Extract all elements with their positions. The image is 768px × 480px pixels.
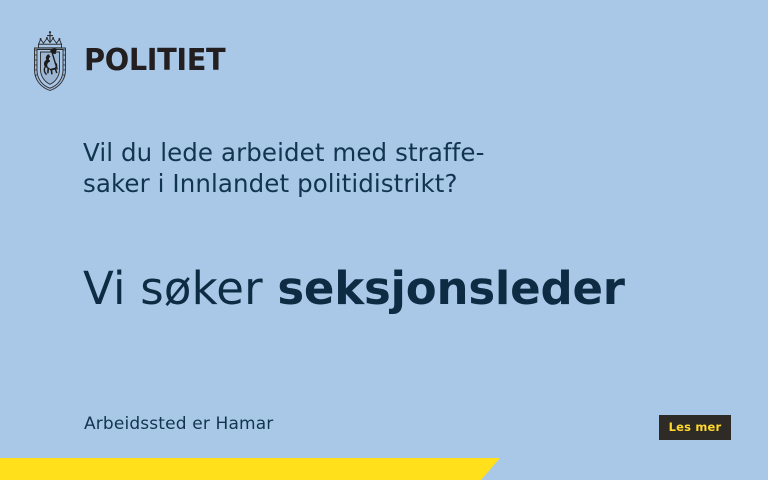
ad-subtitle: Vil du lede arbeidet med straffe- saker … [83, 137, 683, 199]
brand-lockup: POLITIET [26, 30, 231, 92]
headline-lead-text: Vi søker [83, 262, 277, 315]
politiet-wordmark: POLITIET [84, 46, 225, 76]
ad-subtitle-line-1: Vil du lede arbeidet med straffe- [83, 137, 683, 168]
ad-subtitle-line-2: saker i Innlandet politidistrikt? [83, 168, 683, 199]
les-mer-button-label: Les mer [669, 422, 722, 434]
les-mer-button[interactable]: Les mer [659, 415, 731, 440]
ad-headline: Vi søker seksjonsleder [83, 263, 625, 315]
headline-role-text: seksjonsleder [277, 262, 624, 315]
work-location-text: Arbeidssted er Hamar [84, 413, 273, 435]
norwegian-coat-of-arms-icon [26, 30, 74, 92]
yellow-accent-bar [0, 458, 500, 480]
recruitment-banner: POLITIET Vil du lede arbeidet med straff… [0, 0, 768, 480]
